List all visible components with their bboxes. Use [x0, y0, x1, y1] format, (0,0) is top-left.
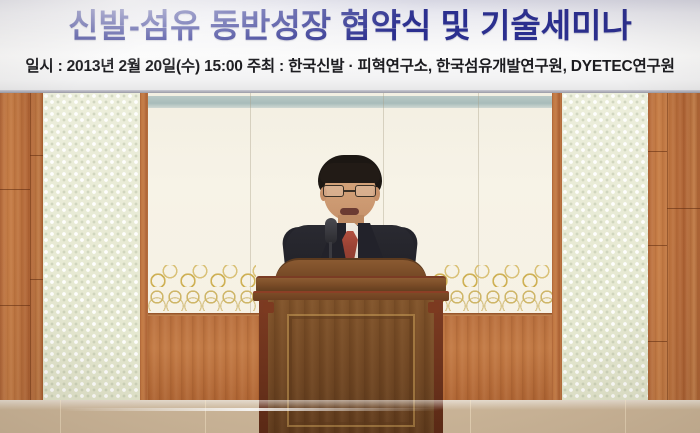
- podium-ornament-right: [428, 302, 439, 313]
- microphone-head: [325, 218, 337, 244]
- podium-ornament-left: [263, 302, 274, 313]
- photo-canvas: 신발-섬유 동반성장 협약식 및 기술세미나 일시 : 2013년 2월 20일…: [0, 0, 700, 433]
- wallpaper-panel-right: [562, 93, 648, 400]
- banner-title: 신발-섬유 동반성장 협약식 및 기술세미나: [0, 4, 700, 48]
- glasses-icon: [322, 185, 378, 197]
- floor: [0, 400, 700, 433]
- gold-frieze-left: [148, 265, 256, 311]
- floor-reflection-highlight: [60, 408, 440, 411]
- event-banner: 신발-섬유 동반성장 협약식 및 기술세미나 일시 : 2013년 2월 20일…: [0, 0, 700, 93]
- wallpaper-panel-left: [43, 93, 140, 400]
- banner-subtitle: 일시 : 2013년 2월 20일(수) 15:00 주최 : 한국신발 · 피…: [0, 55, 700, 79]
- hair-fringe: [320, 163, 380, 183]
- wall-accent-band: [148, 96, 552, 108]
- mouth: [340, 208, 359, 215]
- wood-divider-right: [552, 93, 562, 400]
- wood-pillar-left: [0, 93, 43, 400]
- wood-pillar-right: [648, 93, 700, 400]
